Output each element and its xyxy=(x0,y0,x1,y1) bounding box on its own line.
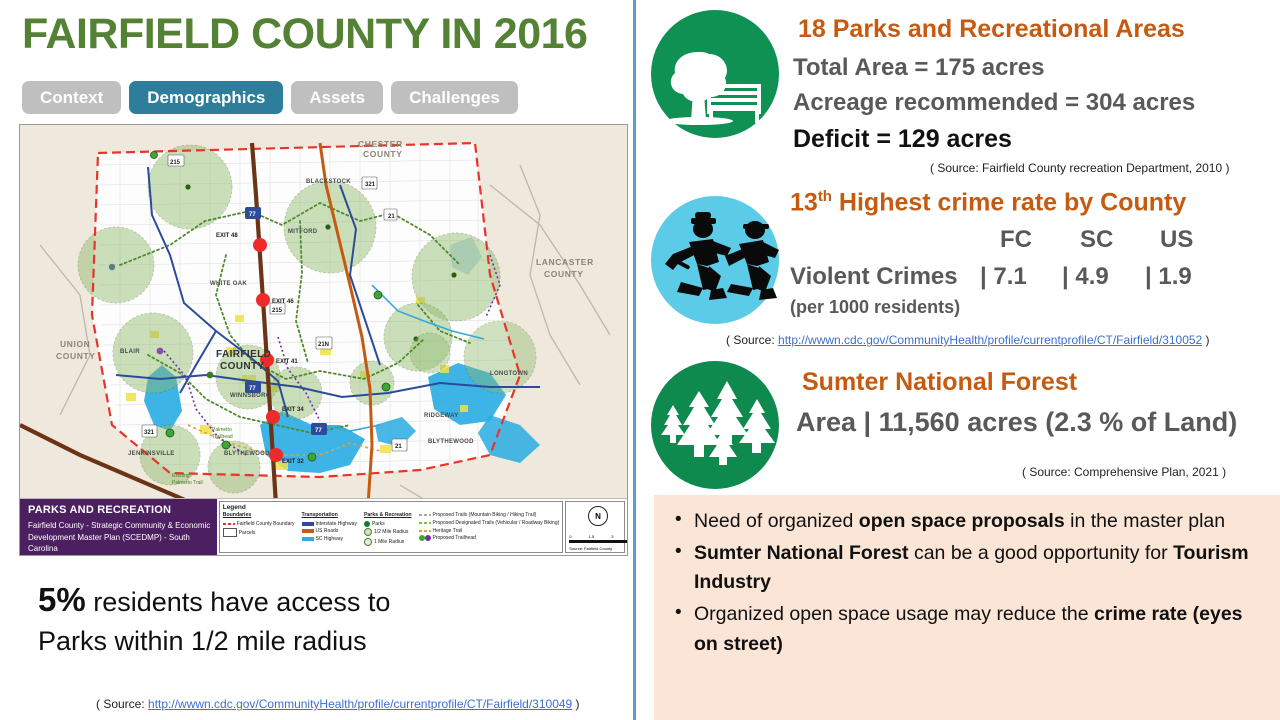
legend-swatch-onemile xyxy=(364,538,372,546)
takeaways-list: Need of organized open space proposals i… xyxy=(668,507,1266,659)
map-legend: Legend Boundaries Fairfield County Bound… xyxy=(219,501,564,553)
list-item: Need of organized open space proposals i… xyxy=(694,507,1266,537)
svg-text:BLACKSTOCK: BLACKSTOCK xyxy=(306,179,351,185)
svg-text:77: 77 xyxy=(249,386,256,392)
crime-source: ( Source: http://wwwn.cdc.gov/CommunityH… xyxy=(726,333,1210,347)
svg-text:Palmetto: Palmetto xyxy=(212,427,232,433)
svg-text:RIDGEWAY: RIDGEWAY xyxy=(424,413,459,419)
source-link-310049[interactable]: http://wwwn.cdc.gov/CommunityHealth/prof… xyxy=(148,697,572,711)
parks-source: ( Source: Fairfield County recreation De… xyxy=(930,161,1229,175)
svg-text:215: 215 xyxy=(170,160,181,166)
tab-challenges[interactable]: Challenges xyxy=(391,81,518,114)
legend-label-parks: Parks xyxy=(372,521,385,527)
legend-label-heritage-trail: Heritage Trail xyxy=(433,528,463,534)
crime-source-prefix: ( Source: xyxy=(726,333,778,347)
access-stat-line1: residents have access to xyxy=(86,587,391,617)
takeaway-2-a: Organized open space usage may reduce th… xyxy=(694,603,1094,625)
crime-col-fc: FC xyxy=(1000,226,1032,254)
crime-source-suffix: ) xyxy=(1202,333,1209,347)
map-subtitle-line2: Development Master Plan (SCEDMP) - South… xyxy=(28,532,211,555)
legend-title: Legend xyxy=(223,504,560,511)
legend-label-trailhead: Proposed Trailhead xyxy=(433,535,476,541)
map-footer: PARKS AND RECREATION Fairfield County - … xyxy=(20,498,627,555)
svg-text:COUNTY: COUNTY xyxy=(56,351,96,361)
takeaway-0-c: in the master plan xyxy=(1065,510,1225,532)
legend-column-transportation: Transportation Interstate Highway US Roa… xyxy=(302,512,357,547)
access-stat-value: 5% xyxy=(38,581,86,618)
crime-value-fc: | 7.1 xyxy=(980,263,1027,291)
legend-swatch-schighway xyxy=(302,537,314,541)
svg-text:MITFORD: MITFORD xyxy=(288,229,318,235)
crime-rank: 13 xyxy=(790,188,818,216)
legend-swatch-parcels xyxy=(223,528,237,537)
tab-assets[interactable]: Assets xyxy=(291,81,383,114)
crime-heading-rest: Highest crime rate by County xyxy=(832,188,1186,216)
legend-swatch-trailhead-2 xyxy=(425,535,431,541)
svg-text:FAIRFIELD: FAIRFIELD xyxy=(216,349,271,360)
legend-column-boundaries: Boundaries Fairfield County Boundary Par… xyxy=(223,512,295,547)
svg-text:77: 77 xyxy=(249,212,256,218)
parks-deficit: Deficit = 129 acres xyxy=(793,125,1012,154)
svg-text:COUNTY: COUNTY xyxy=(544,269,584,279)
svg-text:215: 215 xyxy=(272,308,283,314)
left-column: FAIRFIELD COUNTY IN 2016 Context Demogra… xyxy=(0,0,633,720)
tab-bar: Context Demographics Assets Challenges xyxy=(22,81,518,114)
legend-column-parks: Parks & Recreation Parks 1/2 Mile Radius… xyxy=(364,512,412,547)
svg-text:LONGTOWN: LONGTOWN xyxy=(490,371,528,377)
svg-text:77: 77 xyxy=(315,428,322,434)
map-image[interactable]: CHESTERCOUNTY LANCASTERCOUNTY UNIONCOUNT… xyxy=(19,124,628,556)
svg-text:21: 21 xyxy=(395,444,402,450)
svg-text:321: 321 xyxy=(365,182,376,188)
takeaway-1-c: can be a good opportunity for xyxy=(909,542,1174,564)
svg-text:WHITE OAK: WHITE OAK xyxy=(210,281,247,287)
map-graphic: CHESTERCOUNTY LANCASTERCOUNTY UNIONCOUNT… xyxy=(20,125,627,555)
legend-swatch-boundary xyxy=(223,523,235,525)
forest-trees-icon xyxy=(651,361,779,489)
svg-text:WINNSBORO: WINNSBORO xyxy=(230,393,271,399)
svg-text:COUNTY: COUNTY xyxy=(363,149,403,159)
svg-text:Trailhead: Trailhead xyxy=(212,434,233,440)
takeaway-0-b: open space proposals xyxy=(859,510,1065,532)
crime-note: (per 1000 residents) xyxy=(790,297,960,318)
svg-text:UNION: UNION xyxy=(60,339,90,349)
svg-text:LANCASTER: LANCASTER xyxy=(536,257,594,267)
svg-text:BLYTHEWOOD: BLYTHEWOOD xyxy=(428,439,474,445)
legend-label-boundary: Fairfield County Boundary xyxy=(237,521,295,527)
scale-labels: 0 1.5 3 6 Miles xyxy=(569,534,628,539)
svg-text:Palmetto Trail: Palmetto Trail xyxy=(172,480,203,486)
legend-swatch-designated-trails xyxy=(419,522,431,524)
runners-glyph xyxy=(651,196,779,324)
forest-glyph xyxy=(651,361,779,489)
crime-value-us: | 1.9 xyxy=(1145,263,1192,291)
parks-heading: 18 Parks and Recreational Areas xyxy=(798,15,1185,44)
legend-column-trails: Proposed Trails (Mountain Biking / Hikin… xyxy=(419,512,560,547)
forest-area: Area | 11,560 acres (2.3 % of Land) xyxy=(796,407,1237,438)
legend-swatch-heritage-trail xyxy=(419,530,431,532)
legend-label-parcels: Parcels xyxy=(239,530,256,536)
svg-text:CHESTER: CHESTER xyxy=(358,139,403,149)
crime-col-us: US xyxy=(1160,226,1193,254)
svg-text:EXIT 48: EXIT 48 xyxy=(216,233,238,239)
running-thief-police-icon xyxy=(651,196,779,324)
svg-text:21N: 21N xyxy=(318,342,329,348)
crime-value-sc: | 4.9 xyxy=(1062,263,1109,291)
legend-head-boundaries: Boundaries xyxy=(223,512,295,519)
legend-label-halfmile: 1/2 Mile Radius xyxy=(374,529,408,535)
svg-text:COUNTY: COUNTY xyxy=(220,361,265,372)
svg-text:EXIT 41: EXIT 41 xyxy=(276,359,298,365)
source-suffix: ) xyxy=(572,697,579,711)
map-scale-block: N 0 1.5 3 6 Miles Source: Fairfield Coun… xyxy=(565,501,625,553)
legend-label-schighway: SC Highway xyxy=(316,536,344,542)
svg-text:BLAIR: BLAIR xyxy=(120,349,140,355)
legend-swatch-proposed-trails xyxy=(419,514,431,516)
legend-swatch-usroads xyxy=(302,529,314,533)
parks-acreage-recommended: Acreage recommended = 304 acres xyxy=(793,89,1195,117)
forest-source: ( Source: Comprehensive Plan, 2021 ) xyxy=(1022,465,1226,479)
parks-total-area: Total Area = 175 acres xyxy=(793,54,1044,82)
svg-text:EXIT 32: EXIT 32 xyxy=(282,459,304,465)
scale-label-1: 1.5 xyxy=(589,534,595,539)
source-prefix: ( Source: xyxy=(96,697,148,711)
crime-heading: 13th Highest crime rate by County xyxy=(790,188,1186,217)
svg-text:21: 21 xyxy=(388,214,395,220)
legend-swatch-parks xyxy=(364,521,370,527)
scale-label-0: 0 xyxy=(569,534,571,539)
list-item: Organized open space usage may reduce th… xyxy=(694,600,1266,659)
crime-rank-suffix: th xyxy=(818,188,832,205)
legend-label-proposed-trails: Proposed Trails (Mountain Biking / Hikin… xyxy=(433,512,537,518)
map-subtitle-line1: Fairfield County - Strategic Community &… xyxy=(28,520,211,532)
map-source-label: Source: Fairfield County xyxy=(569,546,612,551)
access-stat: 5% residents have access to Parks within… xyxy=(38,578,598,659)
access-stat-source: ( Source: http://wwwn.cdc.gov/CommunityH… xyxy=(96,697,580,711)
legend-head-parks: Parks & Recreation xyxy=(364,512,412,519)
scale-bar xyxy=(569,540,628,543)
tree-bench-glyph xyxy=(651,10,779,138)
page-title: FAIRFIELD COUNTY IN 2016 xyxy=(22,12,622,57)
column-divider xyxy=(633,0,636,720)
crime-row-label: Violent Crimes xyxy=(790,263,958,291)
takeaway-1-b: Sumter National Forest xyxy=(694,542,909,564)
crime-col-sc: SC xyxy=(1080,226,1113,254)
tree-bench-icon xyxy=(651,10,779,138)
map-title: PARKS AND RECREATION xyxy=(28,504,211,516)
legend-label-onemile: 1 Mile Radius xyxy=(374,539,404,545)
access-stat-line2: Parks within 1/2 mile radius xyxy=(38,626,367,656)
svg-text:EXIT 34: EXIT 34 xyxy=(282,407,304,413)
takeaways-panel: Need of organized open space proposals i… xyxy=(654,495,1280,720)
map-title-block: PARKS AND RECREATION Fairfield County - … xyxy=(20,499,217,555)
takeaway-0-a: Need of organized xyxy=(694,510,859,532)
legend-label-interstate: Interstate Highway xyxy=(316,521,357,527)
svg-text:Existing: Existing xyxy=(172,473,190,479)
compass-north-icon: N xyxy=(588,506,608,526)
slide-root: FAIRFIELD COUNTY IN 2016 Context Demogra… xyxy=(0,0,1280,720)
legend-label-designated-trails: Proposed Designated Trails (Vehicular / … xyxy=(433,520,560,526)
list-item: Sumter National Forest can be a good opp… xyxy=(694,539,1266,598)
legend-swatch-interstate xyxy=(302,522,314,526)
svg-text:BLYTHEWOOD: BLYTHEWOOD xyxy=(224,451,270,457)
legend-label-usroads: US Roads xyxy=(316,528,339,534)
svg-text:321: 321 xyxy=(144,430,155,436)
legend-swatch-trailhead xyxy=(419,535,425,541)
source-link-310052[interactable]: http://wwwn.cdc.gov/CommunityHealth/prof… xyxy=(778,333,1202,347)
tab-demographics[interactable]: Demographics xyxy=(129,81,283,114)
legend-head-transportation: Transportation xyxy=(302,512,357,519)
scale-label-2: 3 xyxy=(611,534,613,539)
svg-text:JENKINSVILLE: JENKINSVILLE xyxy=(128,451,175,457)
forest-heading: Sumter National Forest xyxy=(802,368,1077,397)
tab-context[interactable]: Context xyxy=(22,81,121,114)
legend-swatch-halfmile xyxy=(364,528,372,536)
right-column: 18 Parks and Recreational Areas Total Ar… xyxy=(640,0,1280,720)
